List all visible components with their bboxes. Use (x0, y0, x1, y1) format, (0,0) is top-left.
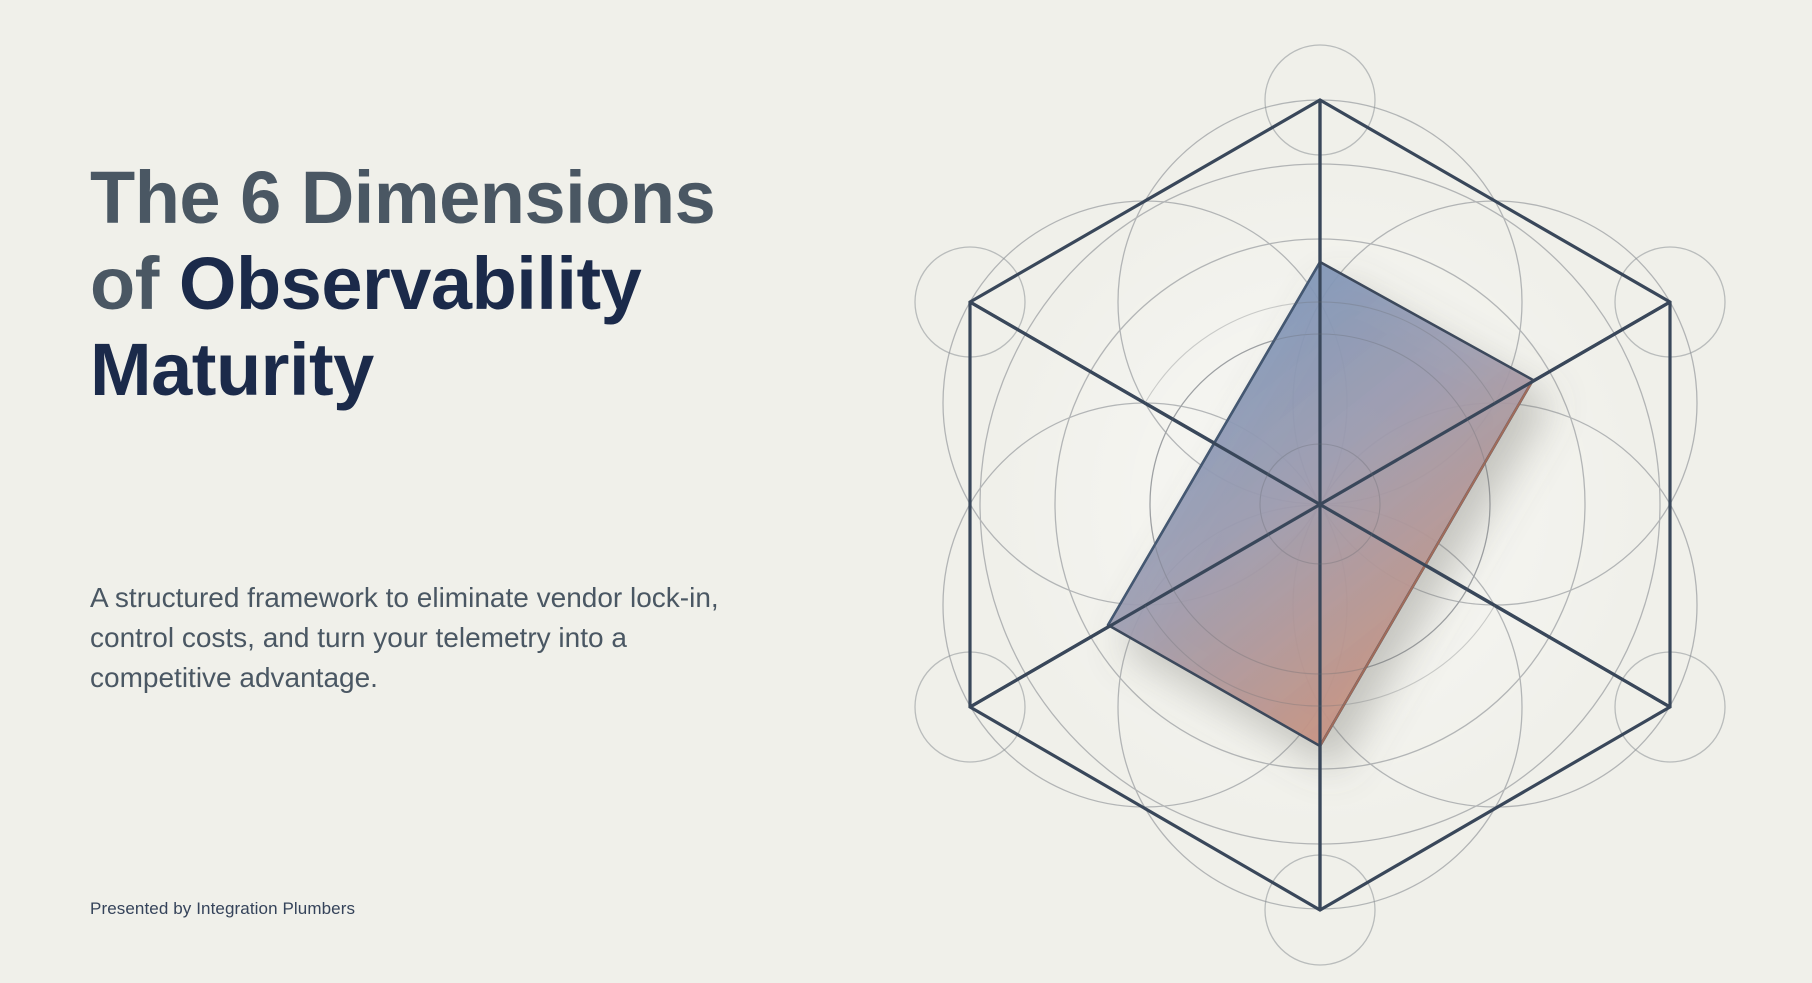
text-column: The 6 Dimensions of Observability Maturi… (90, 0, 850, 983)
cube-inner-edges-back (970, 100, 1670, 910)
title-line-2-accent: Observability (179, 242, 641, 325)
plane-surface (1108, 262, 1533, 746)
vertex-circles (915, 45, 1725, 965)
slide-root: The 6 Dimensions of Observability Maturi… (0, 0, 1812, 983)
title-line-1: The 6 Dimensions (90, 156, 715, 239)
construction-circles (943, 100, 1697, 909)
plane-overlay-arcs (1145, 302, 1495, 706)
center-glow (990, 174, 1650, 834)
cube-inner-edges-front (970, 100, 1670, 910)
subtitle: A structured framework to eliminate vend… (90, 578, 750, 697)
presenter-credit: Presented by Integration Plumbers (90, 899, 355, 919)
hexagon-outline (970, 100, 1670, 910)
title-line-2-lead: of (90, 242, 179, 325)
plane-warm-edge (1320, 380, 1533, 746)
plane-cool-edge (1108, 262, 1320, 625)
title-line-3-accent: Maturity (90, 328, 374, 411)
page-title: The 6 Dimensions of Observability Maturi… (90, 155, 830, 412)
gradient-plane (1108, 262, 1533, 746)
